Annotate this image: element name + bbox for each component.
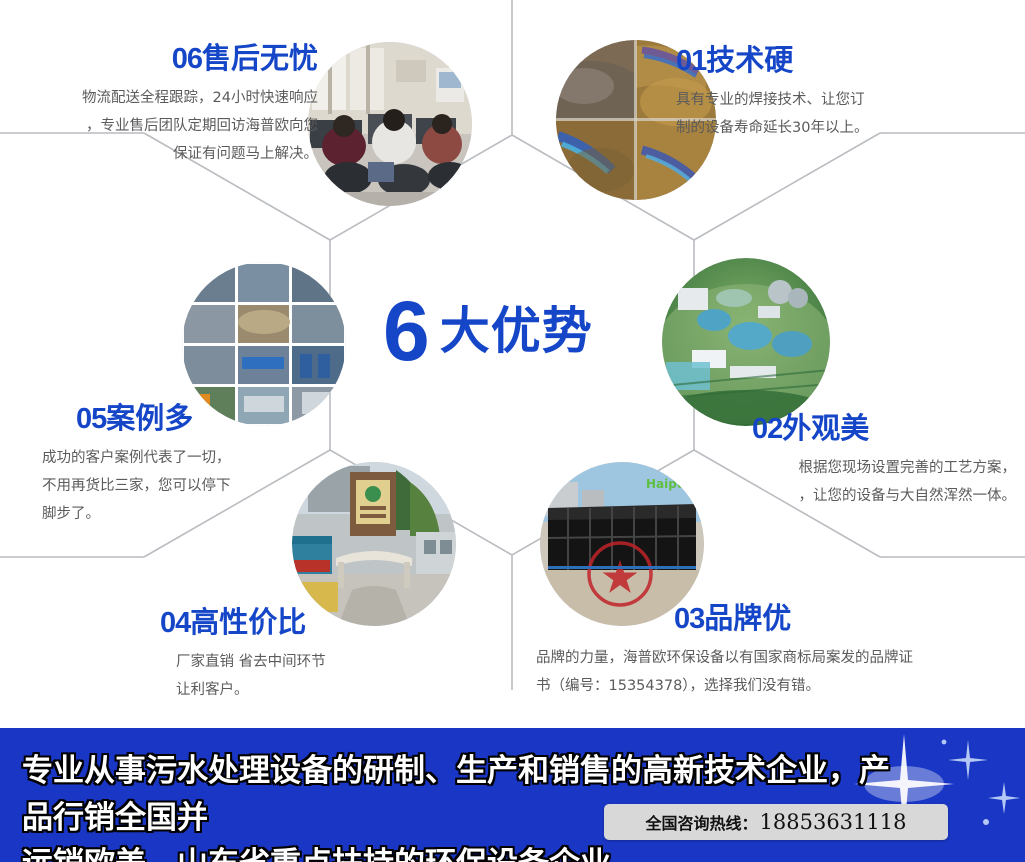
banner-line-2: 远销欧美，山东省重点扶持的环保设备企业。	[22, 841, 902, 862]
hotline-number: 18853631118	[760, 810, 907, 834]
hotline-pill[interactable]: 全国咨询热线： 18853631118	[604, 804, 948, 840]
hotline-label: 全国咨询热线：	[646, 810, 758, 834]
advantage-heading-01: 01技术硬	[676, 46, 1006, 78]
advantage-block-05: 05案例多 成功的客户案例代表了一切， 不用再货比三家，您可以停下 脚步了。	[42, 404, 342, 529]
advantage-title-04: 高性价比	[190, 607, 306, 639]
advantage-desc-03: 品牌的力量，海普欧环保设备以有国家商标局案发的品牌证 书（编号：15354378…	[536, 644, 1006, 701]
advantage-title-02: 外观美	[782, 413, 869, 445]
advantage-heading-06: 06售后无忧	[8, 44, 318, 76]
advantage-desc-05: 成功的客户案例代表了一切， 不用再货比三家，您可以停下 脚步了。	[42, 444, 342, 529]
advantage-code-05: 05	[76, 403, 106, 435]
advantage-code-01: 01	[676, 45, 706, 77]
advantage-code-02: 02	[752, 413, 782, 445]
advantage-code-03: 03	[674, 603, 704, 635]
advantage-desc-02: 根据您现场设置完善的工艺方案， ，让您的设备与大自然浑然一体。	[690, 454, 1016, 511]
photo-black-equipment-tank: Haipuou	[540, 462, 704, 626]
photo-office-staff	[308, 42, 472, 206]
advantage-heading-02: 02外观美	[752, 414, 1016, 446]
advantage-block-02: 02外观美 根据您现场设置完善的工艺方案， ，让您的设备与大自然浑然一体。	[690, 414, 1016, 510]
advantage-title-05: 案例多	[106, 403, 193, 435]
advantage-title-06: 售后无忧	[202, 43, 318, 75]
center-title: 6 大优势	[383, 286, 643, 376]
advantage-desc-01: 具有专业的焊接技术、让您订 制的设备寿命延长30年以上。	[676, 86, 1006, 143]
center-word: 大优势	[440, 306, 593, 356]
advantage-heading-03: 03品牌优	[674, 604, 1006, 636]
advantage-block-06: 06售后无忧 物流配送全程跟踪，24小时快速响应 ，专业售后团队定期回访海普欧向…	[8, 44, 318, 169]
bottom-banner: 专业从事污水处理设备的研制、生产和销售的高新技术企业，产品行销全国并 远销欧美，…	[0, 728, 1025, 862]
advantage-desc-06: 物流配送全程跟踪，24小时快速响应 ，专业售后团队定期回访海普欧向您 保证有问题…	[8, 84, 318, 169]
advantage-code-04: 04	[160, 607, 190, 639]
advantage-heading-05: 05案例多	[76, 404, 342, 436]
center-number: 6	[383, 289, 428, 373]
photo-aerial-wastewater-plant	[662, 258, 830, 426]
advantage-title-03: 品牌优	[704, 603, 791, 635]
advantage-heading-04: 04高性价比	[160, 608, 460, 640]
advantage-block-04: 04高性价比 厂家直销 省去中间环节 让利客户。	[160, 608, 460, 704]
photo-case-collage	[182, 262, 346, 426]
advantage-block-03: 03品牌优 品牌的力量，海普欧环保设备以有国家商标局案发的品牌证 书（编号：15…	[536, 604, 1006, 700]
infographic-root: 6 大优势	[0, 0, 1025, 862]
advantage-code-06: 06	[172, 43, 202, 75]
advantage-desc-04: 厂家直销 省去中间环节 让利客户。	[176, 648, 460, 705]
advantage-block-01: 01技术硬 具有专业的焊接技术、让您订 制的设备寿命延长30年以上。	[676, 46, 1006, 142]
advantage-title-01: 技术硬	[706, 45, 793, 77]
